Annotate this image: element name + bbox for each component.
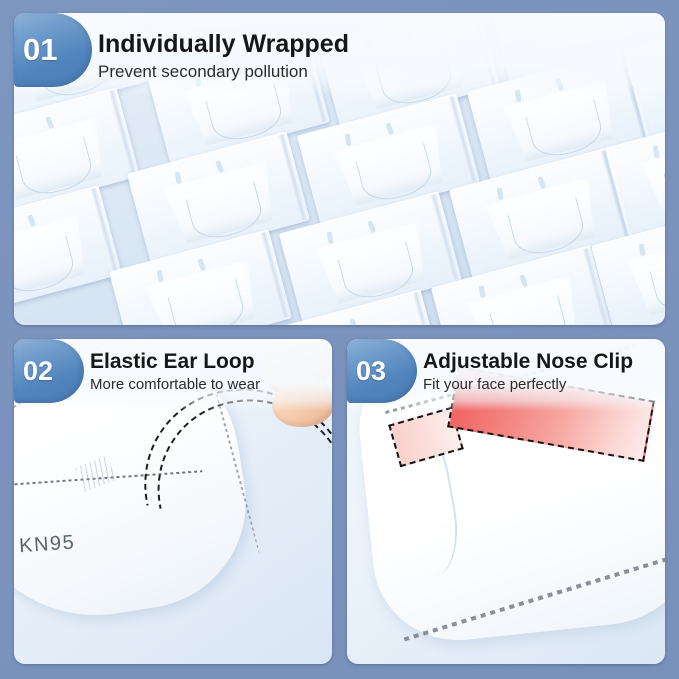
packet-notch (65, 18, 74, 31)
packet-notch (175, 171, 182, 184)
packet-notch (45, 116, 54, 129)
packet-seal (468, 13, 498, 86)
packet-notch (365, 37, 372, 50)
kn95-print-label: KN95 (18, 531, 75, 558)
packet-notch (479, 285, 486, 298)
packet-seal (128, 13, 158, 78)
packet-notch (215, 160, 224, 173)
packet-notch (195, 73, 202, 86)
ear-loop-photo: KN95 (14, 339, 332, 664)
packet-notch (197, 258, 206, 271)
mask-top-stitch-line (14, 339, 146, 419)
packet-notch (515, 89, 522, 102)
packet-seal (90, 188, 120, 275)
packet-notch (25, 29, 32, 42)
feature-panel-individually-wrapped: 01 Individually Wrapped Prevent secondar… (14, 13, 665, 325)
wrapped-mask-packet (14, 185, 122, 317)
packet-notch (537, 176, 546, 189)
packet-notch (555, 78, 564, 91)
packet-notch (27, 214, 36, 227)
mask-pleat-texture (75, 456, 116, 492)
packet-notch (405, 26, 414, 39)
infographic-canvas: 01 Individually Wrapped Prevent secondar… (0, 0, 679, 679)
packet-notch (349, 318, 358, 325)
packet-notch (497, 187, 504, 200)
packet-notch (157, 269, 164, 282)
feature-panel-adjustable-nose-clip: 03 Adjustable Nose Clip Fit your face pe… (347, 339, 665, 664)
packet-notch (367, 220, 376, 233)
packet-notch (519, 274, 528, 287)
packet-seal (638, 13, 665, 42)
wrapped-masks-photo (14, 13, 665, 325)
packet-notch (639, 243, 646, 256)
feature-panel-elastic-ear-loop: KN95 02 Elastic Ear Loop More comfortabl… (14, 339, 332, 664)
packet-seal (108, 90, 138, 177)
packet-notch (235, 62, 244, 75)
packet-notch (385, 122, 394, 135)
packet-notch (653, 145, 660, 158)
nose-clip-photo (347, 339, 665, 664)
packet-notch (327, 231, 334, 244)
packet-notch (345, 133, 352, 146)
